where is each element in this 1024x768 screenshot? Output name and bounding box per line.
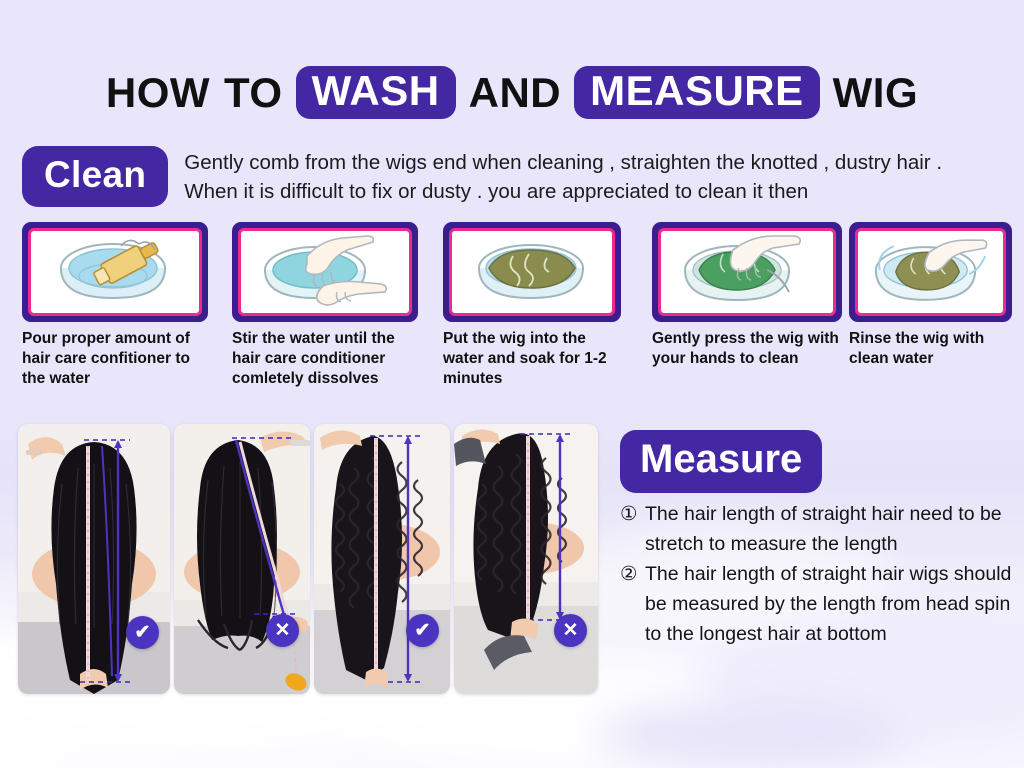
- background-cloud: [600, 700, 900, 768]
- step-4: Gently press the wig with your hands to …: [652, 222, 842, 369]
- measure-item-1-text: The hair length of straight hair need to…: [645, 500, 1018, 559]
- step-1: Pour proper amount of hair care confitio…: [22, 222, 208, 388]
- photo-2-image: [174, 424, 310, 694]
- title-chip-wash: WASH: [296, 66, 456, 119]
- basin-hands-stir-icon: [245, 230, 405, 314]
- photo-3-image: [314, 424, 450, 694]
- step-3-image-frame: [443, 222, 621, 322]
- title-word-wig: WIG: [826, 69, 925, 117]
- basin-pour-conditioner-icon: [35, 230, 195, 314]
- step-3-caption: Put the wig into the water and soak for …: [443, 329, 621, 388]
- photo-1-image: [18, 424, 170, 694]
- title-word-and: AND: [462, 69, 569, 117]
- measure-item-1: ① The hair length of straight hair need …: [620, 500, 1018, 559]
- step-1-caption: Pour proper amount of hair care confitio…: [22, 329, 208, 388]
- clean-description: Gently comb from the wigs end when clean…: [184, 148, 984, 206]
- step-4-caption: Gently press the wig with your hands to …: [652, 329, 842, 369]
- photo-curly-hair-stretched: ✔: [314, 424, 450, 694]
- infographic-page: HOW TO WASH AND MEASURE WIG Clean Gently…: [0, 0, 1024, 768]
- photo-straight-hair-not-stretched: ✕: [174, 424, 310, 694]
- step-2-image-frame: [232, 222, 418, 322]
- step-1-image-frame: [22, 222, 208, 322]
- step-5: Rinse the wig with clean water: [849, 222, 1012, 369]
- photo-4-image: [454, 424, 598, 694]
- step-2: Stir the water until the hair care condi…: [232, 222, 418, 388]
- measure-label: Measure: [620, 430, 822, 493]
- clean-section: Clean Gently comb from the wigs end when…: [22, 146, 1012, 207]
- title-word-to: TO: [217, 69, 290, 117]
- page-title: HOW TO WASH AND MEASURE WIG: [0, 66, 1024, 119]
- step-5-image-frame: [849, 222, 1012, 322]
- clean-label: Clean: [22, 146, 168, 207]
- measure-item-2-number: ②: [620, 560, 645, 649]
- step-5-caption: Rinse the wig with clean water: [849, 329, 1012, 369]
- step-2-caption: Stir the water until the hair care condi…: [232, 329, 418, 388]
- step-3: Put the wig into the water and soak for …: [443, 222, 621, 388]
- measure-item-1-number: ①: [620, 500, 645, 559]
- measure-item-2-text: The hair length of straight hair wigs sh…: [645, 560, 1018, 649]
- title-word-how: HOW: [99, 69, 217, 117]
- status-badge-check: ✔: [406, 614, 439, 647]
- measure-instructions: ① The hair length of straight hair need …: [620, 500, 1018, 650]
- status-badge-cross: ✕: [554, 614, 587, 647]
- basin-wig-soak-icon: [455, 230, 609, 314]
- status-badge-check: ✔: [126, 616, 159, 649]
- step-4-image-frame: [652, 222, 842, 322]
- measure-item-2: ② The hair length of straight hair wigs …: [620, 560, 1018, 649]
- title-chip-measure: MEASURE: [574, 66, 820, 119]
- status-badge-cross: ✕: [266, 614, 299, 647]
- basin-hands-press-wig-icon: [667, 230, 827, 314]
- photo-curly-hair-not-stretched: ✕: [454, 424, 598, 694]
- basin-rinse-wig-icon: [858, 230, 1003, 314]
- photo-straight-hair-stretched: ✔: [18, 424, 170, 694]
